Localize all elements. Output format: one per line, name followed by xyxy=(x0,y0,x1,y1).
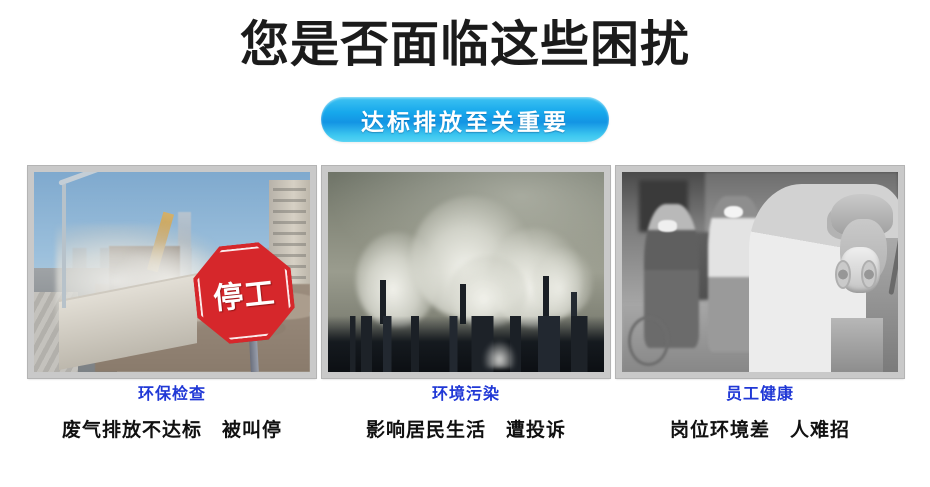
photo-workers-respirators xyxy=(622,172,898,372)
photo-factory-smoke xyxy=(328,172,604,372)
card-caption-1: 废气排放不达标 被叫停 xyxy=(28,418,316,444)
highlight-banner: 达标排放至关重要 xyxy=(321,97,609,142)
stop-work-sign-label: 停工 xyxy=(211,268,277,318)
photo-frame-1: 停工 xyxy=(28,166,316,378)
card-caption-3: 岗位环境差 人难招 xyxy=(616,418,904,444)
card-title-2: 环境污染 xyxy=(322,384,610,406)
photo-demolition-site: 停工 xyxy=(34,172,310,372)
photo-frame-2 xyxy=(322,166,610,378)
banner-row: 达标排放至关重要 xyxy=(0,97,930,142)
page-title: 您是否面临这些困扰 xyxy=(0,14,930,76)
cards-row: 停工 环保检查 废气排放不达标 被叫停 xyxy=(28,166,904,444)
card-environmental-inspection: 停工 环保检查 废气排放不达标 被叫停 xyxy=(28,166,316,444)
card-environmental-pollution: 环境污染 影响居民生活 遭投诉 xyxy=(322,166,610,444)
card-title-1: 环保检查 xyxy=(28,384,316,406)
photo-frame-3 xyxy=(616,166,904,378)
card-caption-2: 影响居民生活 遭投诉 xyxy=(322,418,610,444)
card-employee-health: 员工健康 岗位环境差 人难招 xyxy=(616,166,904,444)
card-title-3: 员工健康 xyxy=(616,384,904,406)
banner-label: 达标排放至关重要 xyxy=(361,103,569,137)
